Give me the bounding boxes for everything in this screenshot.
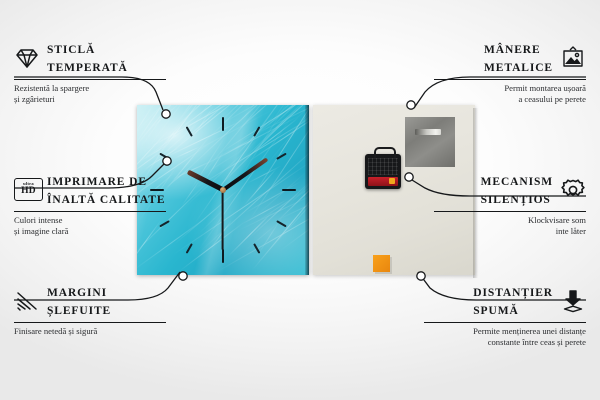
callout-rule: [14, 79, 166, 80]
callout-subtitle-line2: și zgârieturi: [14, 94, 166, 105]
callout-subtitle-line1: Rezistentă la spargere: [14, 83, 166, 94]
callout-subtitle-line2: a ceasului pe perete: [434, 94, 586, 105]
polished-edges-icon: [14, 289, 40, 313]
gear-icon: [560, 178, 586, 202]
callout-subtitle-line1: Finisare netedă și sigură: [14, 326, 166, 337]
callout-rule: [434, 79, 586, 80]
callout-imprimare-inalta-calitate[interactable]: ultra HD IMPRIMARE DE ÎNALTĂ CALITATE Cu…: [14, 172, 166, 237]
callout-distantier-spuma[interactable]: DISTANȚIER SPUMĂ Permite menținerea unei…: [424, 283, 586, 348]
clock-tick: [222, 117, 224, 131]
ultra-hd-icon: ultra HD: [14, 178, 40, 202]
callout-header: DISTANȚIER SPUMĂ: [424, 283, 586, 319]
callout-title: STICLĂ TEMPERATĂ: [47, 40, 128, 76]
hd-badge: ultra HD: [14, 178, 43, 201]
clock-hour-hand: [186, 170, 224, 193]
hanger-slot: [415, 129, 441, 135]
callout-rule: [434, 211, 586, 212]
callout-subtitle-line2: inte låter: [434, 226, 586, 237]
callout-subtitle-line1: Permit montarea ușoară: [434, 83, 586, 94]
callout-mecanism-silentios[interactable]: MECANISM SILENȚIOS Klockvisare som inte …: [434, 172, 586, 237]
clock-tick: [282, 189, 296, 191]
callout-subtitle-line2: constante între ceas și perete: [424, 337, 586, 348]
callout-header: ultra HD IMPRIMARE DE ÎNALTĂ CALITATE: [14, 172, 166, 208]
picture-hanger-icon: [560, 46, 586, 70]
callout-manere-metalice[interactable]: MÂNERE METALICE Permit montarea ușoară a…: [434, 40, 586, 105]
callout-header: MÂNERE METALICE: [434, 40, 586, 76]
mechanism-handle: [374, 147, 396, 158]
callout-subtitle-line2: și imagine clară: [14, 226, 166, 237]
clock-tick: [253, 126, 260, 137]
callout-rule: [14, 211, 166, 212]
callout-header: MECANISM SILENȚIOS: [434, 172, 586, 208]
callout-subtitle-line1: Culori intense: [14, 215, 166, 226]
foam-spacer: [373, 255, 390, 272]
callout-sticla-temperata[interactable]: STICLĂ TEMPERATĂ Rezistentă la spargere …: [14, 40, 166, 105]
callout-title: MÂNERE METALICE: [484, 40, 553, 76]
callout-title: DISTANȚIER SPUMĂ: [473, 283, 553, 319]
clock-tick: [276, 220, 287, 227]
callout-rule: [14, 322, 166, 323]
clock-tick: [253, 243, 260, 254]
metal-hanger-plate: [405, 117, 455, 167]
callout-header: MARGINI ȘLEFUITE: [14, 283, 166, 319]
callout-title: MARGINI ȘLEFUITE: [47, 283, 111, 319]
callout-rule: [424, 322, 586, 323]
callout-title: IMPRIMARE DE ÎNALTĂ CALITATE: [47, 172, 165, 208]
quartz-mechanism: [365, 154, 401, 189]
clock-tick: [222, 249, 224, 263]
callout-subtitle-line1: Permite menținerea unei distanțe: [424, 326, 586, 337]
product-image: [137, 105, 475, 275]
clock-tick: [186, 126, 193, 137]
infographic-stage: STICLĂ TEMPERATĂ Rezistentă la spargere …: [0, 0, 600, 400]
glass-edge: [305, 105, 309, 275]
clock-tick: [276, 153, 287, 160]
clock-tick: [159, 153, 170, 160]
mechanism-battery: [368, 177, 398, 186]
callout-margini-slefuite[interactable]: MARGINI ȘLEFUITE Finisare netedă și sigu…: [14, 283, 166, 337]
diamond-icon: [14, 46, 40, 70]
callout-title: MECANISM SILENȚIOS: [481, 172, 553, 208]
spacer-arrow-icon: [560, 289, 586, 313]
clock-tick: [186, 243, 193, 254]
clock-center-cap: [220, 187, 226, 193]
callout-header: STICLĂ TEMPERATĂ: [14, 40, 166, 76]
mechanism-grid: [368, 158, 398, 175]
clock-second-hand: [222, 190, 224, 250]
callout-subtitle-line1: Klockvisare som: [434, 215, 586, 226]
clock-minute-hand: [222, 157, 269, 191]
